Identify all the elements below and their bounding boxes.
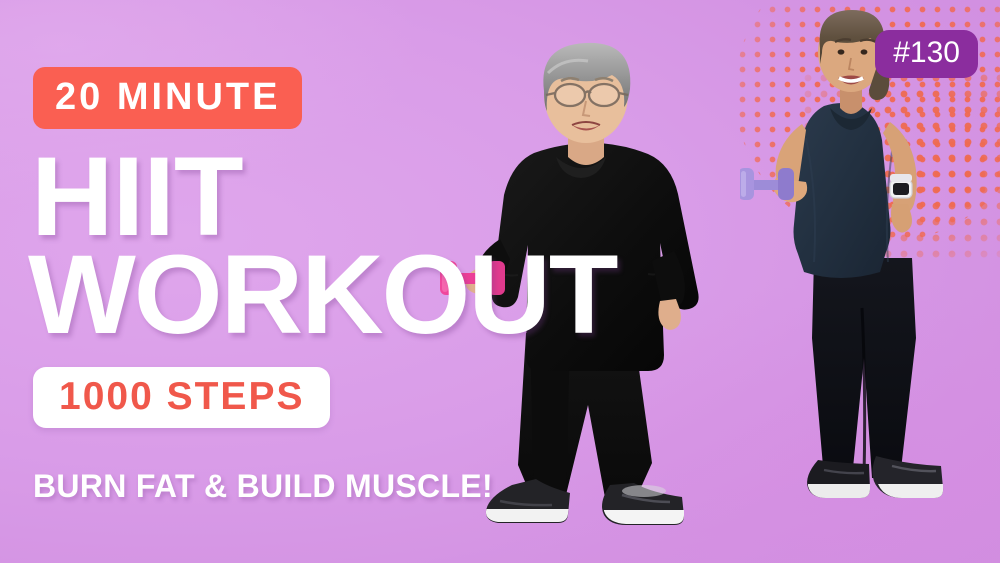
shoe-right [872,456,943,498]
episode-number-badge: #130 [875,30,978,78]
duration-badge: 20 MINUTE [33,67,302,129]
smartwatch-icon [890,174,912,198]
youtube-thumbnail: 20 MINUTE HIIT WORKOUT 1000 STEPS BURN F… [0,0,1000,563]
shoe-right [602,483,684,525]
title-line-1: HIIT [31,150,243,244]
shoe-left [807,460,870,498]
younger-woman-exerciser [740,8,1000,563]
tagline-text: BURN FAT & BUILD MUSCLE! [33,470,493,502]
hand-right [891,204,912,233]
dumbbell-purple [740,168,794,200]
steps-badge: 1000 STEPS [33,367,330,428]
title-line-2: WORKOUT [28,248,617,342]
